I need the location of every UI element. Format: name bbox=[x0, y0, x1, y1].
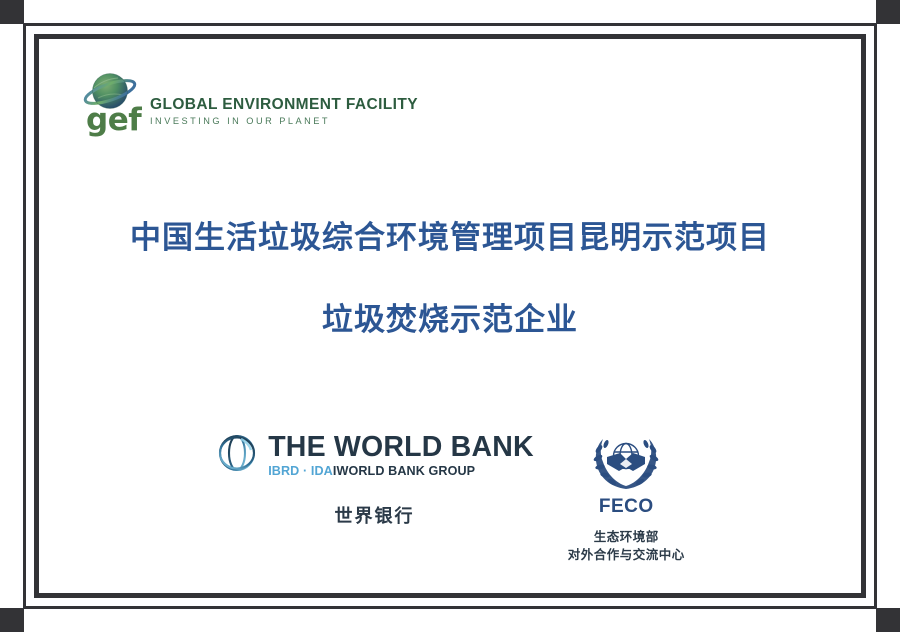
gef-title: GLOBAL ENVIRONMENT FACILITY bbox=[150, 96, 418, 113]
bottom-logo-row: THE WORLD BANK IBRD · IDAIWORLD BANK GRO… bbox=[0, 431, 900, 564]
corner-block-bottom-left bbox=[0, 608, 24, 632]
slide-canvas: gef GLOBAL ENVIRONMENT FACILITY INVESTIN… bbox=[0, 0, 900, 632]
corner-block-top-right bbox=[876, 0, 900, 24]
gef-logo: gef GLOBAL ENVIRONMENT FACILITY INVESTIN… bbox=[78, 70, 418, 132]
title-block: 中国生活垃圾综合环境管理项目昆明示范项目 垃圾焚烧示范企业 bbox=[0, 218, 900, 341]
world-bank-ibrd-ida: IBRD · IDA bbox=[268, 464, 333, 478]
gef-wordmark: gef bbox=[86, 105, 141, 136]
gef-tagline: INVESTING IN OUR PLANET bbox=[150, 116, 418, 126]
feco-chinese-line-1: 生态环境部 bbox=[568, 528, 685, 546]
corner-block-bottom-right bbox=[876, 608, 900, 632]
feco-handshake-laurel-icon bbox=[586, 433, 666, 502]
feco-chinese-line-2: 对外合作与交流中心 bbox=[568, 546, 685, 564]
page-title-line-2: 垃圾焚烧示范企业 bbox=[0, 300, 900, 340]
world-bank-logo: THE WORLD BANK IBRD · IDAIWORLD BANK GRO… bbox=[215, 431, 534, 528]
world-bank-name: THE WORLD BANK bbox=[268, 433, 534, 462]
world-bank-globe-icon bbox=[215, 431, 259, 480]
page-title-line-1: 中国生活垃圾综合环境管理项目昆明示范项目 bbox=[0, 218, 900, 258]
world-bank-group-label: IWORLD BANK GROUP bbox=[333, 464, 475, 478]
corner-block-top-left bbox=[0, 0, 24, 24]
world-bank-chinese-name: 世界银行 bbox=[334, 502, 414, 528]
gef-globe-ring-icon: gef bbox=[78, 70, 144, 132]
feco-logo: FECO 生态环境部 对外合作与交流中心 bbox=[568, 431, 685, 564]
